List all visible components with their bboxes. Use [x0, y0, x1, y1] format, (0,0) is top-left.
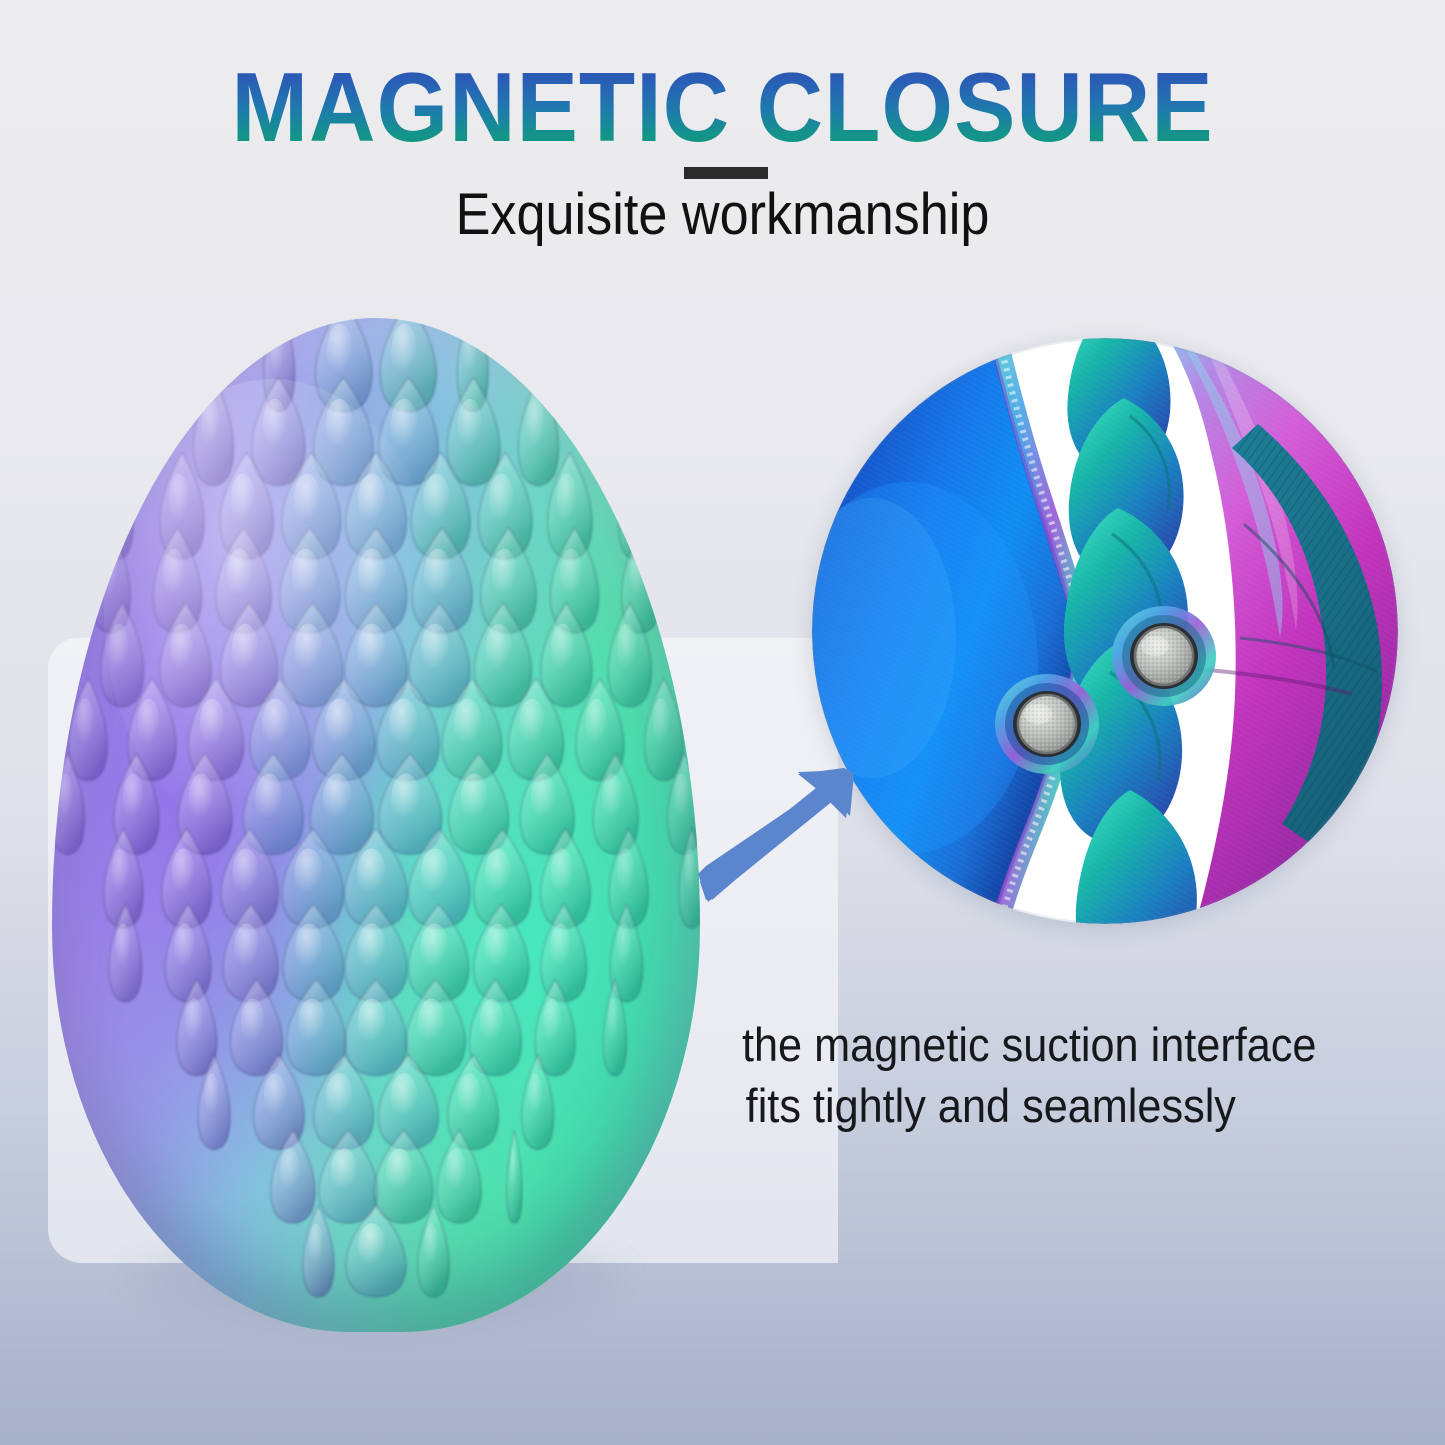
- magnet-closeup-illustration: [812, 338, 1398, 924]
- product-image-dragon-egg: [52, 318, 700, 1332]
- page-title: MAGNETIC CLOSURE: [43, 58, 1401, 156]
- egg-scale-pattern: [52, 318, 700, 1332]
- magnet-closure-inset: [812, 338, 1398, 924]
- pointer-arrow-icon: [698, 766, 858, 906]
- caption-line-2: fits tightly and seamlessly: [742, 1075, 1331, 1136]
- caption-line-1: the magnetic suction interface: [742, 1014, 1331, 1075]
- magnet-socket-lower: [995, 674, 1099, 774]
- title-divider: [684, 167, 768, 179]
- egg-body: [52, 318, 700, 1332]
- magnet-socket-upper: [1112, 606, 1216, 706]
- page-subtitle: Exquisite workmanship: [72, 186, 1373, 244]
- annotation-caption: the magnetic suction interface fits tigh…: [742, 1014, 1331, 1136]
